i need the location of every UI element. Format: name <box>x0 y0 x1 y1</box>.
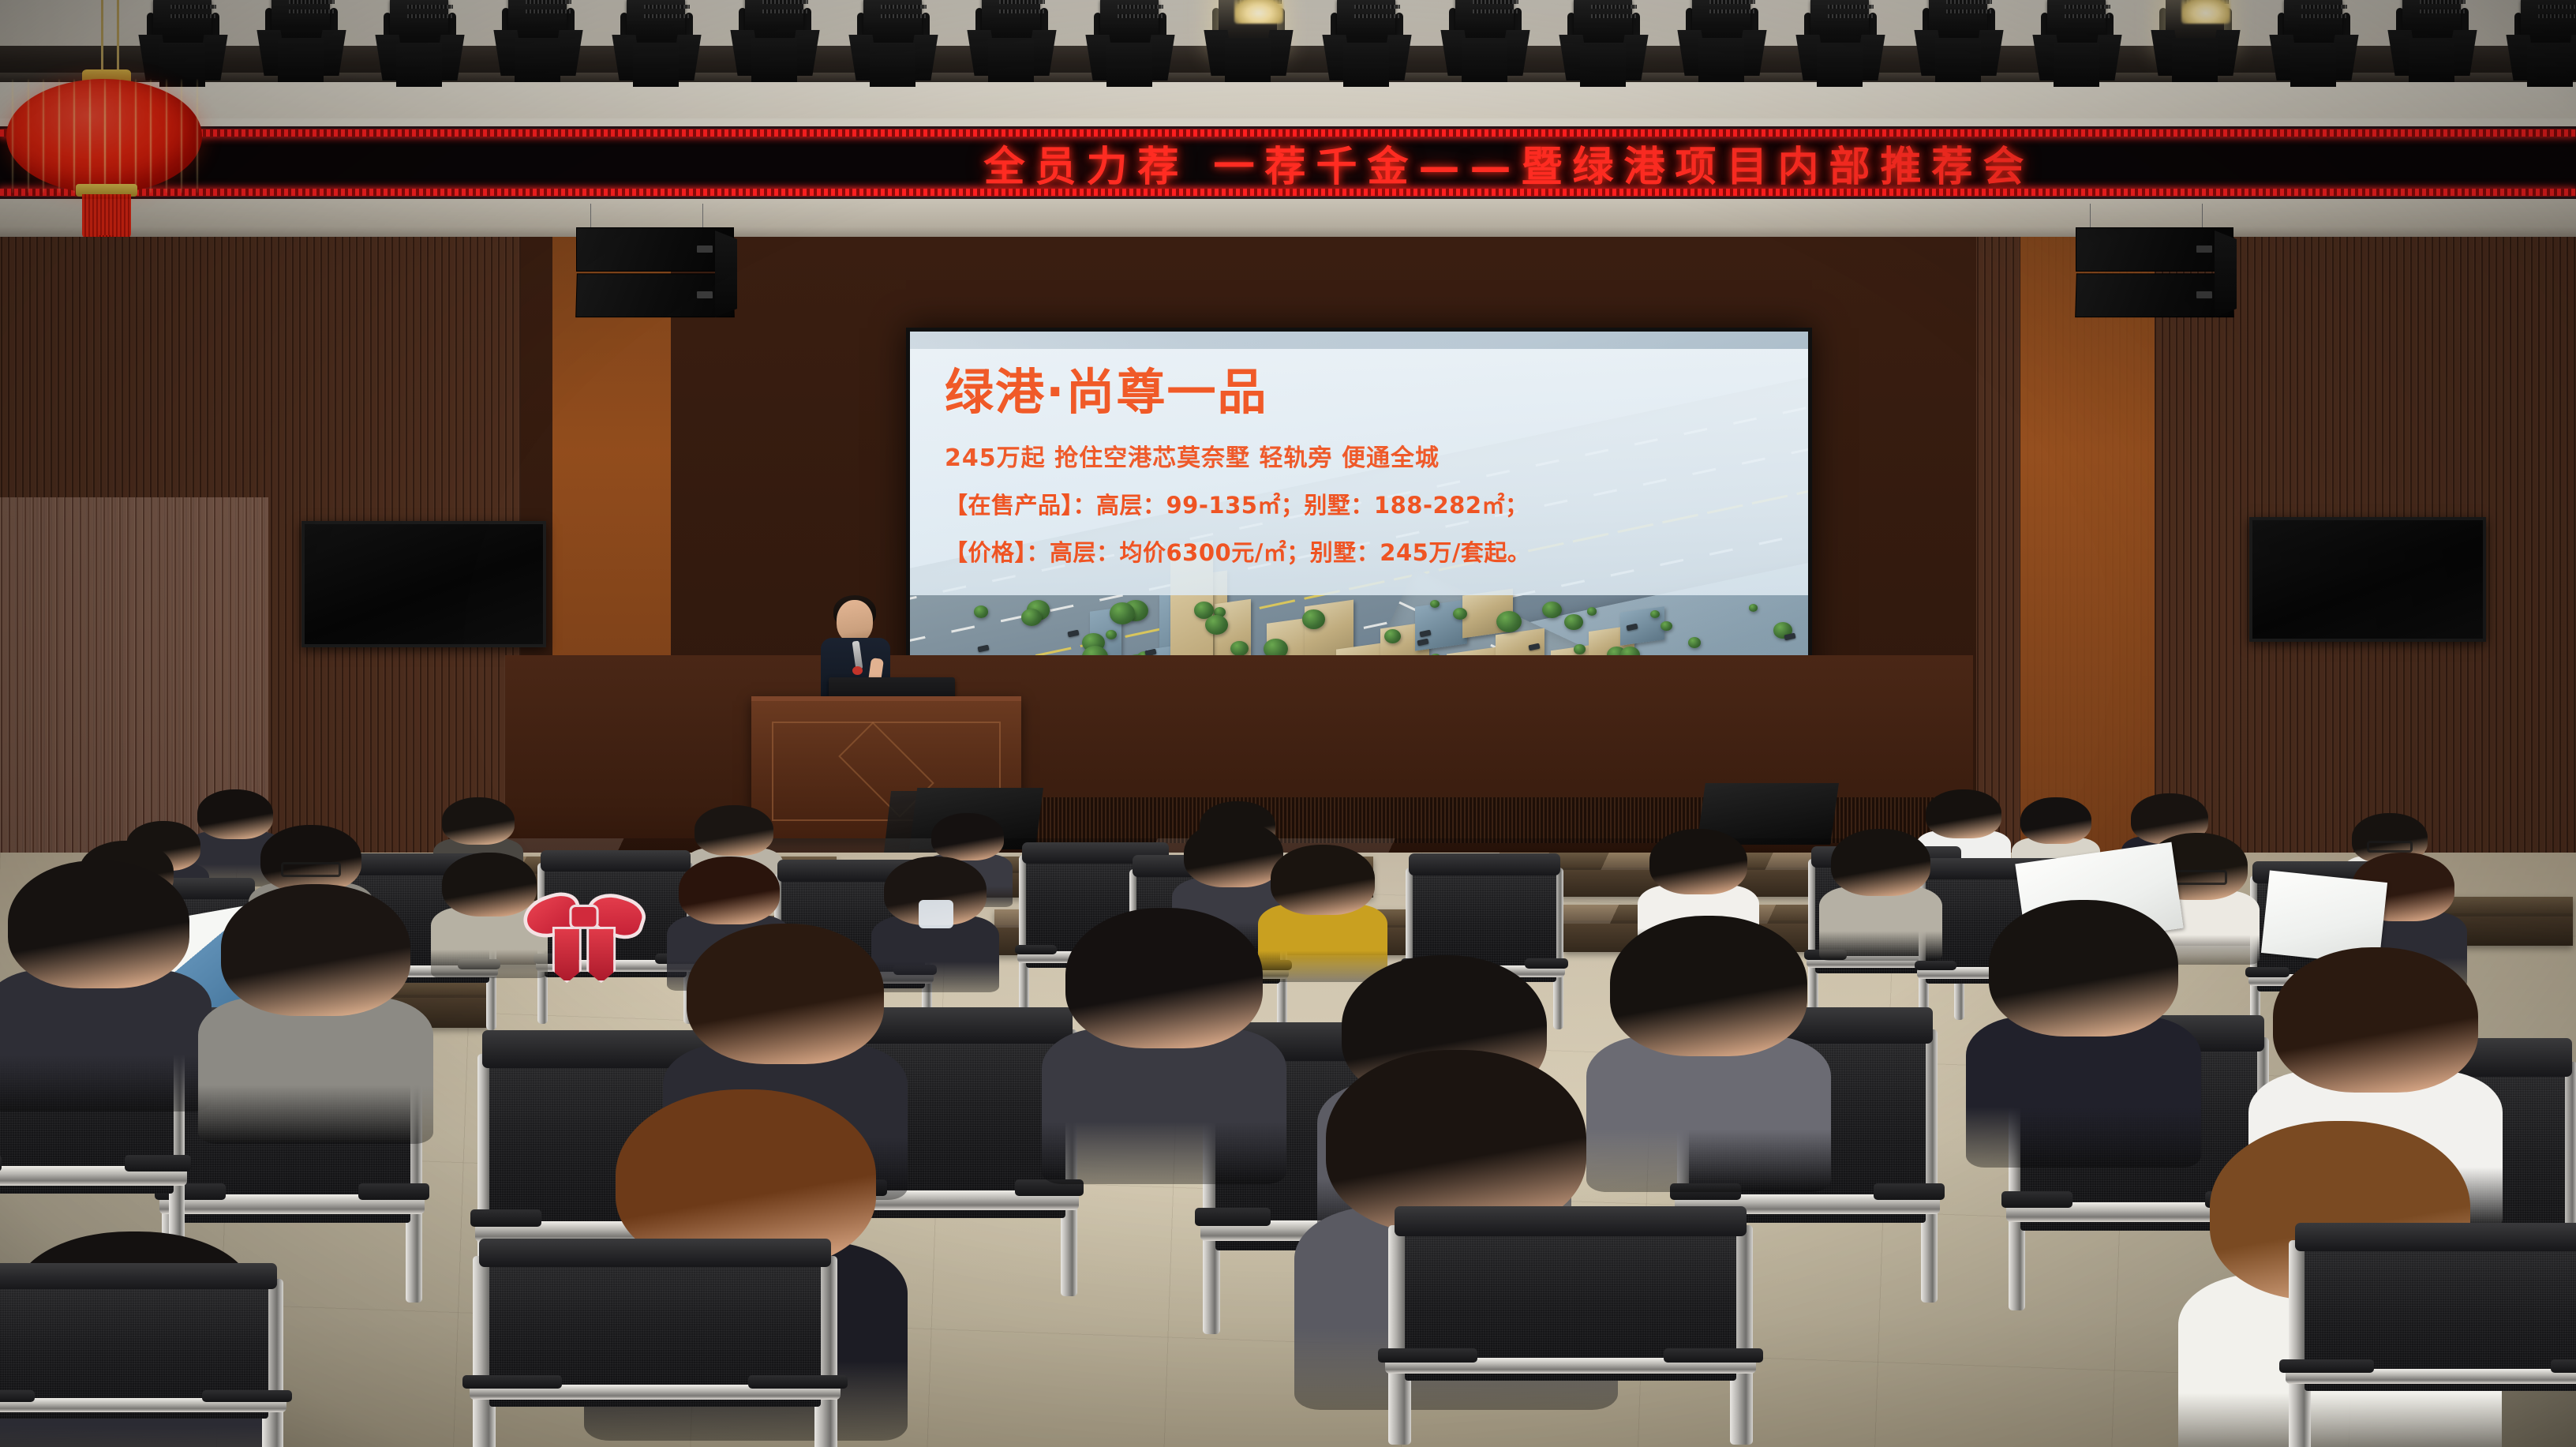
light-vent-second <box>526 9 571 13</box>
wall-display-right <box>2249 517 2486 642</box>
slide-title: 绿港·尚尊一品 <box>945 366 1777 418</box>
stage-light-fixture <box>1799 0 1881 92</box>
audience-chair[interactable] <box>0 1271 268 1447</box>
hair-bow-knot <box>569 905 598 929</box>
light-vent <box>881 5 927 9</box>
person-torso <box>1042 1028 1286 1184</box>
audience-member <box>884 857 987 984</box>
person-head <box>1926 789 2001 838</box>
light-barn-door-center <box>1698 38 1744 82</box>
render-tree <box>1384 629 1402 643</box>
speaker-side-wing-right <box>2215 231 2237 317</box>
audience-member <box>1989 900 2178 1153</box>
light-barn-door-center <box>1817 43 1863 87</box>
slide-text-panel: 绿港·尚尊一品 245万起 抢住空港芯莫奈墅 轻轨旁 便通全城 【在售产品】：高… <box>910 349 1808 595</box>
lantern-rib <box>73 79 75 193</box>
eyeglasses <box>281 862 342 877</box>
person-head <box>1649 829 1747 894</box>
person-torso <box>1819 887 1942 962</box>
light-barn-door-center <box>1935 38 1981 82</box>
render-tree <box>1110 602 1135 624</box>
person-torso <box>0 969 212 1111</box>
red-chinese-lantern <box>6 0 212 261</box>
stage-light-fixture <box>497 0 579 87</box>
lantern-rib <box>58 79 60 193</box>
speaker-cabinet-upper-right <box>2076 227 2233 272</box>
chair-arm-left <box>1015 945 1057 955</box>
speaker-badge <box>697 246 713 253</box>
chair-top-rail <box>479 1239 830 1267</box>
render-tree <box>1587 607 1597 616</box>
light-barn-door-center <box>988 38 1034 82</box>
speaker-cabinet-lower <box>575 273 735 317</box>
speaker-cabinet-upper <box>576 227 734 272</box>
light-vent <box>762 0 808 4</box>
person-head <box>2273 947 2478 1093</box>
chair-arm-left <box>0 1155 2 1171</box>
chair-arm-left <box>462 1375 562 1389</box>
light-barn-door-center <box>2409 38 2454 82</box>
person-head <box>1271 845 1375 915</box>
light-vent <box>289 0 335 4</box>
face-mask <box>919 900 953 928</box>
stage-light-fixture <box>260 0 343 87</box>
render-tree <box>1230 641 1248 656</box>
lantern-rib <box>119 79 121 193</box>
light-vent-second <box>999 9 1045 13</box>
chair-arm-left <box>1195 1208 1271 1226</box>
light-barn-door-center <box>2172 38 2218 82</box>
lantern-cord <box>101 0 103 76</box>
hair-bow <box>523 895 646 969</box>
light-vent-second <box>1709 9 1755 13</box>
chair-arm-right <box>2551 1359 2576 1373</box>
light-vent-second <box>289 9 335 13</box>
microphone-head <box>852 666 863 675</box>
light-vent <box>644 5 690 9</box>
light-vent <box>2065 5 2110 9</box>
light-barn-door-center <box>1580 43 1626 87</box>
person-head <box>8 860 189 988</box>
light-vent <box>1118 5 1163 9</box>
light-vent <box>1828 5 1874 9</box>
person-head <box>221 884 410 1016</box>
render-tree <box>1021 609 1042 626</box>
lantern-cord-secondary <box>117 0 119 76</box>
chair-top-rail <box>541 850 691 872</box>
audience-member <box>221 884 410 1129</box>
person-head <box>679 857 780 924</box>
slide-products-line: 【在售产品】：高层：99-135㎡；别墅：188-282㎡； <box>945 487 1777 520</box>
render-tree <box>1749 604 1758 612</box>
audience-member <box>8 860 189 1097</box>
stage-light-fixture <box>1563 0 1645 92</box>
light-vent-second <box>407 14 453 18</box>
render-tree <box>1661 621 1672 631</box>
stage-light-fixture <box>1089 0 1171 92</box>
light-vent-second <box>1118 14 1163 18</box>
speaker-badge-lower-right <box>2196 291 2212 298</box>
stage-light-fixture <box>852 0 934 92</box>
render-vehicle <box>1784 633 1795 641</box>
stage-light-fixture <box>1326 0 1408 92</box>
lantern-rib <box>181 79 182 193</box>
render-tree <box>1650 610 1660 618</box>
display-screen-left <box>305 524 543 644</box>
person-head <box>260 825 361 892</box>
stage-light-fixture <box>1681 0 1763 87</box>
slide-price-line: 【价格】：高层：均价6300元/㎡；别墅：245万/套起。 <box>945 534 1777 568</box>
render-tree <box>974 605 988 617</box>
chair-top-rail <box>0 1263 277 1290</box>
light-barn-door-center <box>2290 43 2336 87</box>
light-vent <box>2538 5 2576 9</box>
stage-light-fixture <box>379 0 461 92</box>
light-vent-second <box>2420 9 2466 13</box>
wall-display-left <box>301 521 546 647</box>
light-vent <box>1946 0 1992 4</box>
eyeglasses <box>2367 841 2413 852</box>
light-vent-second <box>644 14 690 18</box>
speaker-cable-right <box>2090 204 2091 229</box>
chair-arm-right <box>748 1375 848 1389</box>
lantern-tassel <box>82 194 131 238</box>
person-head <box>1610 916 1807 1056</box>
light-barn-door-center <box>1106 43 1152 87</box>
chair-arm-right <box>358 1183 429 1201</box>
light-vent <box>526 0 571 4</box>
chair-arm-left <box>0 1390 35 1403</box>
light-barn-door-center <box>633 43 679 87</box>
render-tree <box>1564 614 1582 630</box>
light-vent <box>2420 0 2466 4</box>
light-vent <box>1354 5 1400 9</box>
light-vent <box>999 0 1045 4</box>
light-vent-second <box>2065 14 2110 18</box>
line-array-speaker-left <box>576 227 734 326</box>
light-vent-second <box>2538 14 2576 18</box>
render-tree <box>1574 644 1585 654</box>
chair-arm-left <box>2001 1191 2072 1209</box>
person-head <box>1989 900 2178 1037</box>
light-barn-door-center <box>1225 38 1271 82</box>
light-vent-second <box>881 14 927 18</box>
chair-arm-right <box>202 1390 292 1403</box>
stage-light-fixture <box>2391 0 2473 87</box>
speaker-cable <box>590 204 591 229</box>
stage-light-fixture <box>2155 0 2237 87</box>
chair-arm-right <box>1664 1348 1763 1362</box>
lantern-rib <box>12 79 13 193</box>
light-barn-door-center <box>2527 43 2573 87</box>
lantern-rib <box>166 79 167 193</box>
light-barn-door-center <box>1343 43 1389 87</box>
lantern-rib <box>150 79 152 193</box>
lantern-rib <box>135 79 137 193</box>
light-barn-door-center <box>1462 38 1507 82</box>
conference-hall-scene: 全员力荐 一荐千金——暨绿港项目内部推荐会 <box>0 0 2576 1447</box>
light-vent <box>407 5 453 9</box>
speaker-cable-right-second <box>2202 204 2203 229</box>
stage-light-fixture <box>1207 0 1290 87</box>
speaker-badge-right <box>2196 246 2212 253</box>
stage-light-fixture <box>2036 0 2118 92</box>
light-barn-door-center <box>2054 43 2099 87</box>
person-torso <box>1966 1016 2201 1168</box>
person-head <box>931 813 1004 860</box>
audience-chair[interactable] <box>2305 1231 2576 1447</box>
light-vent <box>1591 5 1637 9</box>
render-tree <box>1302 609 1325 628</box>
speaker-badge-lower <box>697 291 713 298</box>
chair-arm-left <box>470 1209 541 1227</box>
speaker-cable-second <box>702 204 703 229</box>
light-lamp-glow <box>1234 0 1283 24</box>
chair-arm-right <box>1874 1183 1945 1201</box>
led-banner-text: 全员力荐 一荐千金——暨绿港项目内部推荐会 <box>0 129 2576 197</box>
person-torso <box>1586 1036 1831 1192</box>
person-head <box>1831 829 1930 896</box>
light-vent-second <box>1946 9 1992 13</box>
stage-light-fixture <box>734 0 816 87</box>
render-tree <box>1496 611 1522 632</box>
person-head <box>687 924 884 1064</box>
lantern-rib <box>89 79 91 193</box>
person-head <box>695 805 773 856</box>
light-vent-second <box>762 9 808 13</box>
slide-subtitle: 245万起 抢住空港芯莫奈墅 轻轨旁 便通全城 <box>945 438 1777 473</box>
lantern-body <box>6 79 202 193</box>
audience-chair[interactable] <box>489 1247 821 1447</box>
person-torso <box>198 997 433 1144</box>
render-tree <box>1542 602 1562 618</box>
chair-arm-right <box>125 1155 191 1171</box>
light-vent-second <box>1473 9 1518 13</box>
chair-arm-left <box>2279 1359 2374 1373</box>
light-barn-door-center <box>396 43 442 87</box>
light-vent-second <box>1591 14 1637 18</box>
light-vent-second <box>2301 14 2347 18</box>
stage-light-fixture <box>971 0 1053 87</box>
person-head <box>2020 797 2091 844</box>
stage-light-fixture <box>1444 0 1526 87</box>
light-vent <box>2301 5 2347 9</box>
chair-arm-left <box>1378 1348 1477 1362</box>
display-screen-right <box>2252 520 2483 639</box>
light-barn-door-center <box>278 38 324 82</box>
lantern-rib <box>43 79 44 193</box>
wall-accent-panel-right <box>2020 237 2155 853</box>
speaker-side-wing <box>715 231 737 317</box>
stage-light-fixture <box>1918 0 2000 87</box>
light-barn-door-center <box>515 38 560 82</box>
person-head <box>442 797 515 845</box>
chair-top-rail <box>2295 1223 2576 1251</box>
light-vent-second <box>1354 14 1400 18</box>
light-lamp-glow <box>2181 0 2230 24</box>
render-tree <box>1688 637 1702 648</box>
chair-arm-left <box>1915 961 1956 971</box>
audience-member <box>1065 908 1263 1168</box>
render-tree <box>1453 608 1467 620</box>
led-banner: 全员力荐 一荐千金——暨绿港项目内部推荐会 <box>0 126 2576 199</box>
light-barn-door-center <box>870 43 915 87</box>
person-head <box>1065 908 1263 1048</box>
lantern-rib <box>104 79 106 193</box>
line-array-speaker-right <box>2076 227 2233 326</box>
light-barn-door-center <box>751 38 797 82</box>
light-vent <box>1709 0 1755 4</box>
person-head <box>1326 1050 1586 1233</box>
audience-chair[interactable] <box>1405 1216 1736 1445</box>
light-vent <box>1473 0 1518 4</box>
lantern-rib <box>197 79 198 193</box>
person-head <box>1184 821 1283 887</box>
chair-top-rail <box>1395 1206 1746 1236</box>
stage-light-fixture <box>2510 0 2576 92</box>
stage-light-fixture <box>616 0 698 92</box>
light-vent-second <box>1828 14 1874 18</box>
audience-member <box>1610 916 1807 1176</box>
presenter-head <box>837 600 873 643</box>
stage-light-fixture <box>2273 0 2355 92</box>
speaker-cabinet-lower-right <box>2075 273 2234 317</box>
lantern-rib <box>28 79 29 193</box>
chair-top-rail <box>1409 853 1561 875</box>
audience-member <box>1831 829 1930 954</box>
